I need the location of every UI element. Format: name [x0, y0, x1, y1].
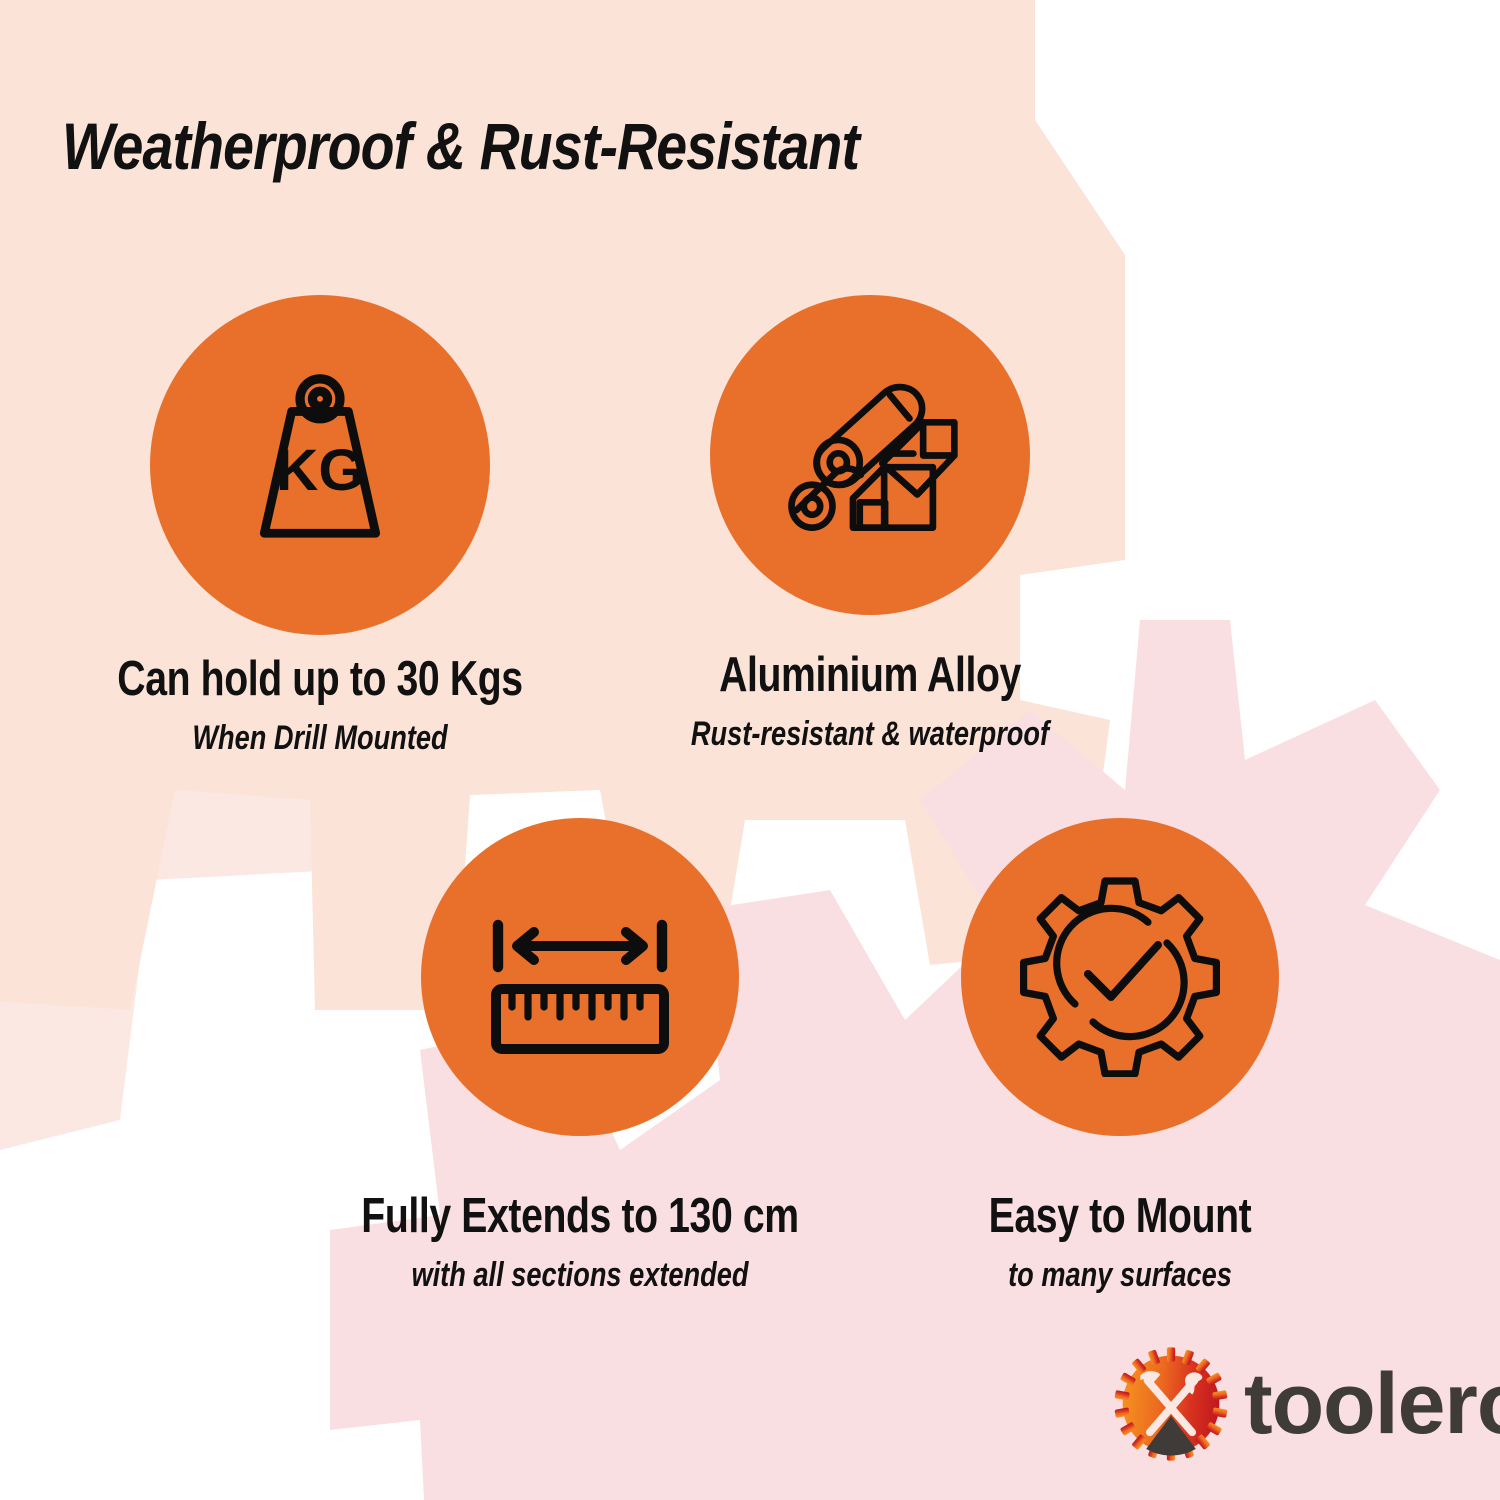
kg-icon-label: KG	[276, 438, 364, 503]
logo-wordmark: tooleroo	[1244, 1361, 1500, 1447]
ruler-measure-icon	[480, 877, 680, 1077]
metal-profiles-icon	[773, 358, 968, 553]
feature-card-extends: Fully Extends to 130 cm with all section…	[300, 818, 860, 1295]
icon-badge-mount	[961, 818, 1279, 1136]
brand-logo: tooleroo	[1112, 1345, 1500, 1463]
icon-badge-extends	[421, 818, 739, 1136]
kg-weight-icon: KG	[215, 360, 425, 570]
icon-badge-alloy	[710, 295, 1030, 615]
gear-check-icon	[1020, 877, 1220, 1077]
icon-badge-weight: KG	[150, 295, 490, 635]
gear-hammer-wrench-icon	[1112, 1345, 1230, 1463]
feature-card-alloy: Aluminium Alloy Rust-resistant & waterpr…	[590, 295, 1150, 754]
infographic-canvas: Weatherproof & Rust-Resistant KG Can hol…	[0, 0, 1500, 1500]
feature-sublabel-extends: with all sections extended	[356, 1256, 804, 1295]
feature-card-weight: KG Can hold up to 30 Kgs When Drill Moun…	[40, 295, 600, 758]
feature-card-mount: Easy to Mount to many surfaces	[840, 818, 1400, 1295]
feature-label-alloy: Aluminium Alloy	[646, 647, 1094, 703]
feature-sublabel-mount: to many surfaces	[896, 1256, 1344, 1295]
feature-label-mount: Easy to Mount	[896, 1188, 1344, 1244]
feature-grid: KG Can hold up to 30 Kgs When Drill Moun…	[0, 0, 1500, 1500]
feature-label-weight: Can hold up to 30 Kgs	[96, 651, 544, 707]
feature-label-extends: Fully Extends to 130 cm	[356, 1188, 804, 1244]
feature-sublabel-weight: When Drill Mounted	[96, 719, 544, 758]
feature-sublabel-alloy: Rust-resistant & waterproof	[646, 715, 1094, 754]
